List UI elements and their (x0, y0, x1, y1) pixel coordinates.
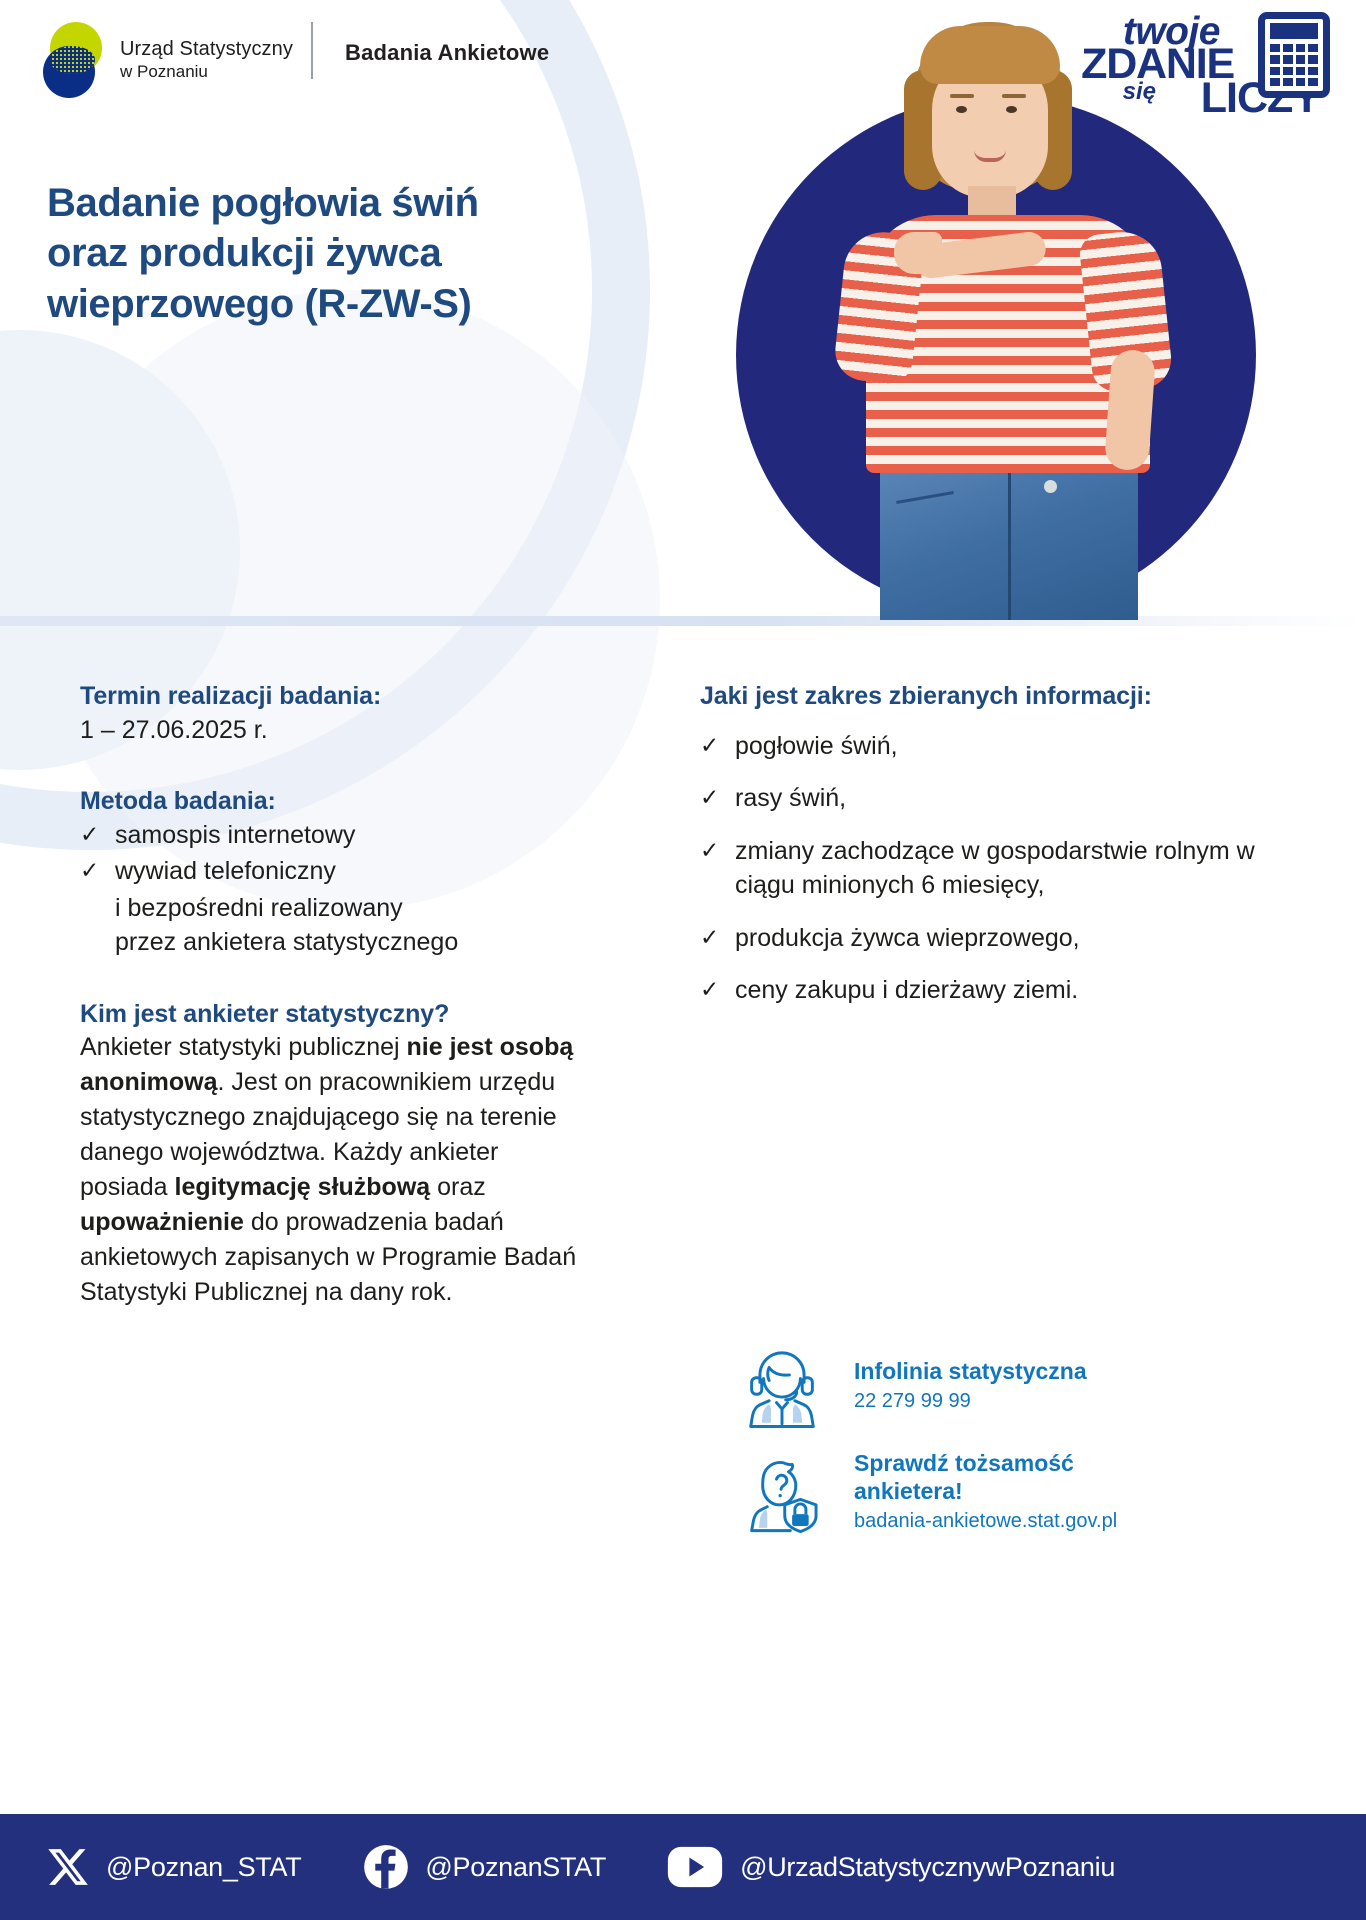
social-handle[interactable]: @Poznan_STAT (106, 1852, 301, 1883)
footer-social-bar: @Poznan_STAT @PoznanSTAT @UrzadStatystyc… (0, 1814, 1366, 1920)
method-continuation-1: i bezpośredni realizowany (115, 891, 580, 926)
left-column: Termin realizacji badania: 1 – 27.06.202… (80, 680, 580, 1310)
identity-row: Sprawdź tożsamość ankietera! badania-ank… (736, 1446, 1117, 1538)
section-label: Badania Ankietowe (345, 40, 549, 66)
page-header: Urząd Statystyczny w Poznaniu Badania An… (0, 0, 1366, 130)
contact-block: Infolinia statystyczna 22 279 99 99 Spra… (736, 1340, 1117, 1552)
check-icon: ✓ (700, 973, 722, 1006)
facebook-icon[interactable] (363, 1844, 409, 1890)
headset-operator-icon (736, 1340, 828, 1432)
para-run-bold-3: upoważnienie (80, 1208, 244, 1236)
identity-url[interactable]: badania-ankietowe.stat.gov.pl (854, 1508, 1117, 1535)
deadline-value: 1 – 27.06.2025 r. (80, 713, 580, 748)
identity-title-line-2: ankietera! (854, 1477, 1117, 1505)
hotline-row: Infolinia statystyczna 22 279 99 99 (736, 1340, 1117, 1432)
logo-word-sie: się (1123, 78, 1156, 106)
list-item-label: pogłowie świń, (735, 729, 1260, 764)
method-continuation-2: przez ankietera statystycznego (115, 925, 580, 960)
method-heading: Metoda badania: (80, 785, 580, 818)
check-icon: ✓ (700, 834, 722, 867)
check-icon: ✓ (700, 921, 722, 954)
list-item-label: produkcja żywca wieprzowego, (735, 921, 1260, 956)
para-run-3: oraz (430, 1173, 486, 1201)
title-line-1: Badanie pogłowia świń (47, 178, 607, 228)
calculator-icon (1258, 12, 1330, 98)
page-title: Badanie pogłowia świń oraz produkcji żyw… (47, 178, 607, 329)
deadline-heading: Termin realizacji badania: (80, 680, 580, 713)
list-item-label: zmiany zachodzące w gospodarstwie rolnym… (735, 834, 1260, 903)
check-icon: ✓ (700, 781, 722, 814)
x-twitter-icon[interactable] (46, 1845, 90, 1889)
scope-heading: Jaki jest zakres zbieranych informacji: (700, 680, 1260, 713)
shield-icon (785, 1499, 816, 1531)
social-facebook[interactable]: @PoznanSTAT (363, 1844, 606, 1890)
check-icon: ✓ (80, 818, 102, 851)
check-icon: ✓ (80, 854, 102, 887)
social-x[interactable]: @Poznan_STAT (46, 1845, 301, 1889)
youtube-icon[interactable] (666, 1846, 724, 1888)
list-item-label: samospis internetowy (115, 818, 580, 853)
list-item: ✓ zmiany zachodzące w gospodarstwie roln… (700, 834, 1260, 903)
title-line-3: wieprzowego (R-ZW-S) (47, 279, 607, 329)
institution-city: w Poznaniu (120, 62, 293, 82)
interviewer-paragraph: Ankieter statystyki publicznej nie jest … (80, 1030, 580, 1310)
hotline-number: 22 279 99 99 (854, 1388, 1087, 1415)
list-item: ✓ rasy świń, (700, 781, 1260, 816)
list-item-label: ceny zakupu i dzierżawy ziemi. (735, 973, 1260, 1008)
list-item: ✓ produkcja żywca wieprzowego, (700, 921, 1260, 956)
social-handle[interactable]: @UrzadStatystycznywPoznaniu (740, 1852, 1115, 1883)
list-item: ✓ samospis internetowy (80, 818, 580, 853)
list-item-label: rasy świń, (735, 781, 1260, 816)
check-icon: ✓ (700, 729, 722, 762)
institution-name: Urząd Statystyczny (120, 38, 293, 62)
para-run-bold-2: legitymację służbową (175, 1173, 431, 1201)
title-line-2: oraz produkcji żywca (47, 228, 607, 278)
twoje-zdanie-liczy-logo: twoje ZDANIE się LICZY (1042, 6, 1342, 116)
list-item: ✓ pogłowie świń, (700, 729, 1260, 764)
header-divider (311, 22, 313, 79)
institution-logo: Urząd Statystyczny w Poznaniu (43, 22, 293, 98)
list-item: ✓ wywiad telefoniczny (80, 854, 580, 889)
identity-check-icon (736, 1446, 828, 1538)
list-item: ✓ ceny zakupu i dzierżawy ziemi. (700, 973, 1260, 1008)
method-list: ✓ samospis internetowy ✓ wywiad telefoni… (80, 818, 580, 889)
right-column: Jaki jest zakres zbieranych informacji: … (700, 680, 1260, 1026)
scope-list: ✓ pogłowie świń, ✓ rasy świń, ✓ zmiany z… (700, 729, 1260, 1008)
social-handle[interactable]: @PoznanSTAT (425, 1852, 606, 1883)
identity-title-line-1: Sprawdź tożsamość (854, 1449, 1117, 1477)
para-run-1: Ankieter statystyki publicznej (80, 1033, 407, 1061)
list-item-label: wywiad telefoniczny (115, 854, 580, 889)
social-youtube[interactable]: @UrzadStatystycznywPoznaniu (666, 1846, 1115, 1888)
hotline-title: Infolinia statystyczna (854, 1357, 1087, 1385)
gus-circles-logo-icon (43, 22, 105, 98)
interviewer-heading: Kim jest ankieter statystyczny? (80, 998, 580, 1031)
